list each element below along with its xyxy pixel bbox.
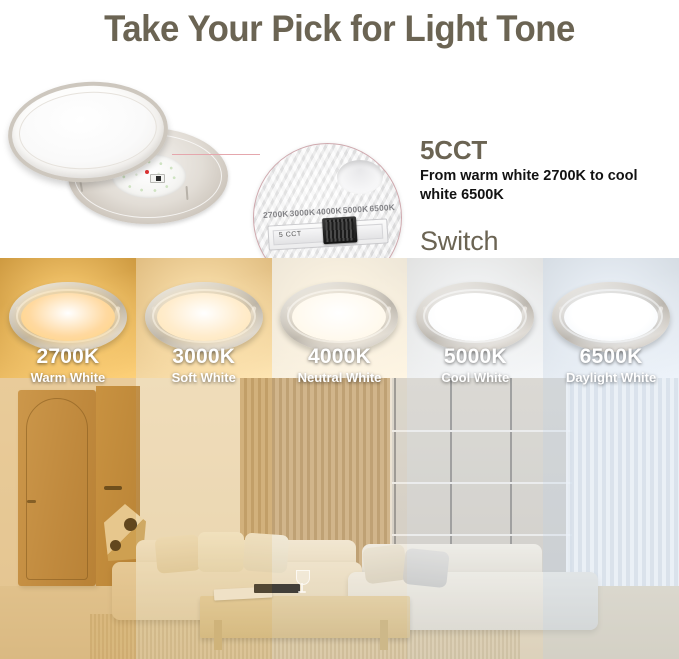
book-stack [254,584,300,593]
cct-labels: 2700K Warm White 3000K Soft White 4000K … [0,345,679,393]
coffee-table [200,596,410,638]
door-arch-trim [26,398,88,580]
cct-name: Cool White [407,369,543,386]
cct-label-5000k: 5000K Cool White [407,345,543,393]
feature-body-5cct: From warm white 2700K to cool white 6500… [420,167,670,205]
lamp-dome [428,293,522,341]
switch-knob[interactable] [322,216,358,244]
cct-switch-on-board [150,174,165,183]
product-detail-section: 2700K 3000K 4000K 5000K 6500K 5 CCT 5CCT… [0,58,679,258]
pointer-anchor-dot [145,170,149,174]
sheer-curtain [566,378,679,592]
cct-name: Neutral White [272,369,408,386]
cct-label-6500k: 6500K Daylight White [543,345,679,393]
kelvin-mark: 3000K [289,207,315,219]
throw-pillow [198,532,244,572]
feature-heading-switch: Switch [420,227,670,257]
cct-name: Daylight White [543,369,679,386]
page-title: Take Your Pick for Light Tone [20,0,658,58]
cabinet-handle [104,486,122,490]
cct-kelvin: 4000K [272,345,408,369]
throw-pillow [155,534,202,574]
kelvin-mark: 2700K [263,208,289,220]
cct-label-4000k: 4000K Neutral White [272,345,408,393]
kelvin-mark: 6500K [369,202,395,214]
arched-wood-door [18,390,96,586]
feature-heading-5cct: 5CCT [420,136,670,165]
product-photo-exploded [6,78,246,238]
lamp-dome [292,293,386,341]
living-room-scene [0,378,679,659]
lamp-dome [564,293,658,341]
cct-kelvin: 3000K [136,345,272,369]
kelvin-mark: 4000K [316,205,342,217]
product-infographic: Take Your Pick for Light Tone 270 [0,0,679,659]
ceiling-lamp [280,282,398,352]
cct-kelvin: 6500K [543,345,679,369]
ceiling-lamp [9,282,127,352]
cct-name: Soft White [136,369,272,386]
cct-label-2700k: 2700K Warm White [0,345,136,393]
lamp-dome [157,293,251,341]
ceiling-lamp [145,282,263,352]
cct-label-3000k: 3000K Soft White [136,345,272,393]
wine-glass [296,570,308,594]
lamp-dome [21,293,115,341]
ceiling-lamp [416,282,534,352]
spacer [420,205,670,227]
magnifier-pointer-line [172,154,260,155]
cct-kelvin: 5000K [407,345,543,369]
mounting-hole [337,160,383,194]
cct-name: Warm White [0,369,136,386]
throw-pillow [362,544,408,585]
door-handle [27,500,36,503]
ceiling-lamp [552,282,670,352]
switch-print-label: 5 CCT [279,231,302,239]
throw-pillow [402,548,450,588]
kelvin-mark: 5000K [343,204,369,216]
cct-slide-switch[interactable]: 5 CCT [267,218,388,250]
throw-pillow [243,533,290,574]
cct-kelvin: 2700K [0,345,136,369]
